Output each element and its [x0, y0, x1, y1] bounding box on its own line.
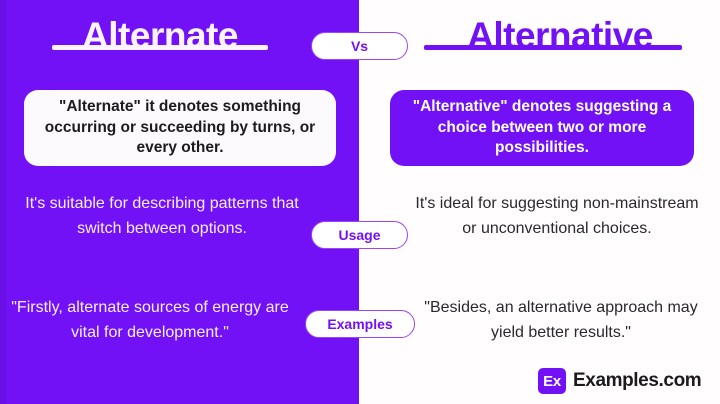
right-usage-text: It's ideal for suggesting non-mainstream…: [412, 192, 702, 242]
left-definition-card: "Alternate" it denotes something occurri…: [24, 90, 336, 166]
examples-badge-label: Examples: [327, 316, 392, 332]
left-definition-text: "Alternate" it denotes something occurri…: [36, 97, 324, 159]
right-heading: Alternative: [400, 14, 720, 58]
examples-logo-mark: Ex: [538, 368, 566, 394]
comparison-infographic: Alternate Alternative Vs Usage Examples …: [0, 0, 720, 404]
left-heading-underline: [52, 45, 268, 50]
examples-logo-text: Examples.com: [573, 370, 701, 392]
vs-badge: Vs: [311, 32, 408, 60]
right-example-text: "Besides, an alternative approach may yi…: [414, 296, 708, 346]
left-usage-text: It's suitable for describing patterns th…: [22, 192, 302, 242]
left-heading: Alternate: [0, 14, 320, 58]
right-heading-underline: [424, 45, 682, 50]
examples-logo: Ex Examples.com: [538, 368, 701, 394]
examples-badge: Examples: [305, 310, 415, 338]
right-definition-text: "Alternative" denotes suggesting a choic…: [402, 97, 682, 159]
right-definition-card: "Alternative" denotes suggesting a choic…: [390, 90, 694, 166]
usage-badge-label: Usage: [338, 227, 380, 243]
left-example-text: "Firstly, alternate sources of energy ar…: [0, 296, 300, 346]
usage-badge: Usage: [311, 221, 408, 249]
vs-badge-label: Vs: [351, 38, 368, 54]
